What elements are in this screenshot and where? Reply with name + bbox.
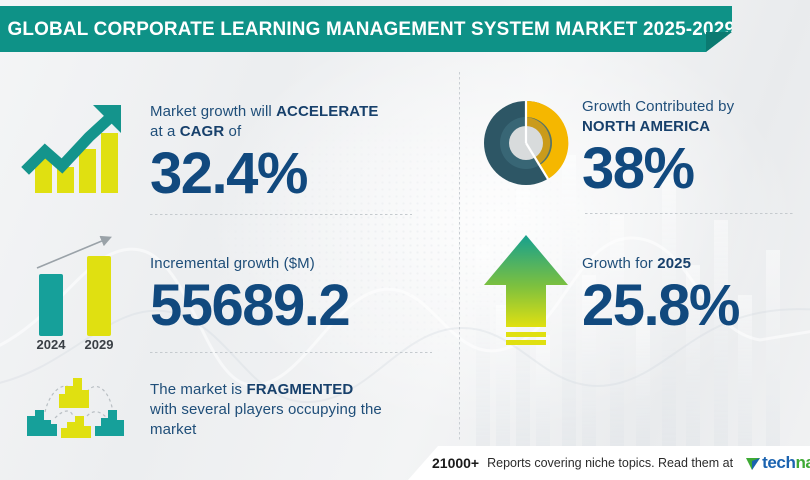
up-arrow-icon: [470, 225, 582, 355]
stat-growth-2025: Growth for 2025 25.8%: [470, 225, 810, 365]
stat-cagr-text: Market growth will ACCELERATE at a CAGR …: [150, 78, 379, 228]
cagr-value: 32.4%: [150, 144, 379, 204]
na-line-2: NORTH AMERICA: [582, 117, 734, 137]
stat-north-america: Growth Contributed by NORTH AMERICA 38%: [470, 78, 810, 218]
fragmented-line-2: with several players occupying the: [150, 400, 382, 420]
footer-bar: 21000+ Reports covering niche topics. Re…: [408, 446, 810, 480]
header-banner: GLOBAL CORPORATE LEARNING MANAGEMENT SYS…: [0, 6, 732, 52]
two-bar-comparison-icon: 2024 2029: [0, 225, 150, 355]
incremental-label: Incremental growth ($M): [150, 254, 349, 274]
left-column: Market growth will ACCELERATE at a CAGR …: [0, 60, 460, 440]
technavio-logo[interactable]: technav: [745, 453, 810, 473]
na-line-1: Growth Contributed by: [582, 97, 734, 117]
technavio-wordmark: technav: [762, 453, 810, 473]
right-column: Growth Contributed by NORTH AMERICA 38%: [462, 60, 810, 440]
stat-growth-2025-text: Growth for 2025 25.8%: [582, 225, 739, 365]
growth-2025-line-1: Growth for 2025: [582, 254, 739, 274]
stat-incremental-growth: 2024 2029 Incremental growth ($M) 55689.…: [0, 225, 455, 365]
stat-cagr: Market growth will ACCELERATE at a CAGR …: [0, 78, 455, 228]
fragmented-line-3: market: [150, 420, 382, 440]
technavio-arrow-icon: [745, 454, 762, 472]
svg-text:2029: 2029: [85, 337, 114, 350]
footer-message: Reports covering niche topics. Read them…: [487, 456, 733, 470]
cagr-line-1: Market growth will ACCELERATE: [150, 102, 379, 122]
stat-fragmented-text: The market is FRAGMENTED with several pl…: [150, 365, 382, 455]
stat-fragmented-market: The market is FRAGMENTED with several pl…: [0, 365, 455, 455]
cagr-line-2: at a CAGR of: [150, 122, 379, 142]
reports-count: 21000+: [432, 455, 479, 471]
infographic-canvas: GLOBAL CORPORATE LEARNING MANAGEMENT SYS…: [0, 0, 810, 480]
fragmented-line-1: The market is FRAGMENTED: [150, 380, 382, 400]
growth-2025-value: 25.8%: [582, 276, 739, 336]
stat-incremental-text: Incremental growth ($M) 55689.2: [150, 225, 349, 365]
page-title: GLOBAL CORPORATE LEARNING MANAGEMENT SYS…: [0, 18, 735, 41]
ribbon-fold: [706, 32, 732, 52]
stat-north-america-text: Growth Contributed by NORTH AMERICA 38%: [582, 78, 734, 218]
fragmented-market-buildings-icon: [0, 365, 150, 445]
incremental-value: 55689.2: [150, 276, 349, 336]
na-value: 38%: [582, 139, 734, 199]
donut-chart-icon: [470, 78, 582, 208]
svg-text:2024: 2024: [37, 337, 67, 350]
bar-chart-growth-arrow-icon: [0, 78, 150, 218]
